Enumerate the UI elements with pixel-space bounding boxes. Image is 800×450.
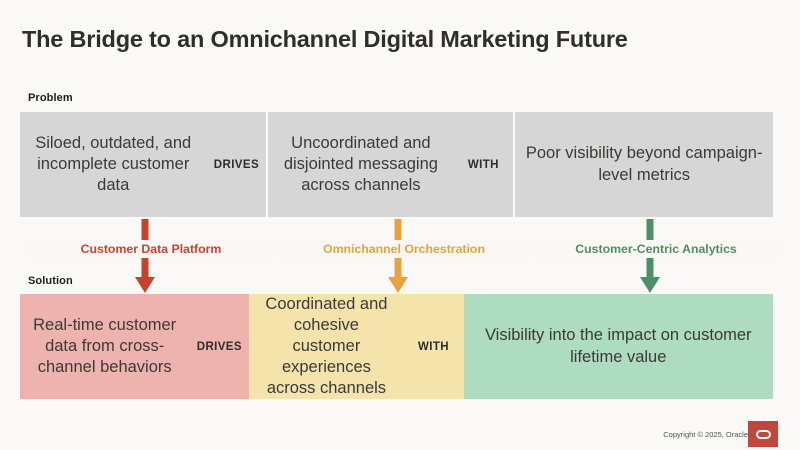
problem-cell-1: Siloed, outdated, and incomplete custome… [20,112,206,217]
problem-cell-2-text: Uncoordinated and disjointed messaging a… [268,133,453,196]
problem-connector-drives: DRIVES [206,112,266,217]
solution-cell-1-text: Real-time customer data from cross-chann… [20,315,189,378]
solution-cell-3: Visibility into the impact on customer l… [464,294,773,399]
oracle-oval-icon [756,430,771,439]
problem-row: Siloed, outdated, and incomplete custome… [20,112,773,217]
solution-cell-2-text: Coordinated and cohesive customer experi… [249,294,403,400]
slide-canvas: The Bridge to an Omnichannel Digital Mar… [0,0,800,450]
problem-connector-drives-label: DRIVES [214,159,259,171]
solution-cell-2: Coordinated and cohesive customer experi… [249,294,403,399]
section-label-problem: Problem [28,92,73,104]
copyright-text: Copyright © 2025, Oracle [663,430,748,439]
solution-connector-drives: DRIVES [189,294,249,399]
page-title: The Bridge to an Omnichannel Digital Mar… [22,26,628,53]
section-label-solution: Solution [28,275,73,287]
problem-connector-with-label: WITH [468,159,499,171]
problem-cell-3: Poor visibility beyond campaign-level me… [513,112,773,217]
solution-connector-with-label: WITH [418,341,449,353]
solution-cell-1: Real-time customer data from cross-chann… [20,294,189,399]
bridge-label-customer-centric-analytics: Customer-Centric Analytics [533,240,779,258]
solution-connector-with: WITH [404,294,464,399]
bridge-label-customer-data-platform: Customer Data Platform [28,240,274,258]
solution-row: Real-time customer data from cross-chann… [20,294,773,399]
solution-cell-3-text: Visibility into the impact on customer l… [464,325,773,367]
oracle-logo [748,421,778,447]
problem-cell-3-text: Poor visibility beyond campaign-level me… [515,143,773,185]
solution-connector-drives-label: DRIVES [197,341,242,353]
problem-connector-with: WITH [453,112,513,217]
problem-cell-2: Uncoordinated and disjointed messaging a… [266,112,453,217]
problem-cell-1-text: Siloed, outdated, and incomplete custome… [20,133,206,196]
bridge-label-omnichannel-orchestration: Omnichannel Orchestration [281,240,527,258]
